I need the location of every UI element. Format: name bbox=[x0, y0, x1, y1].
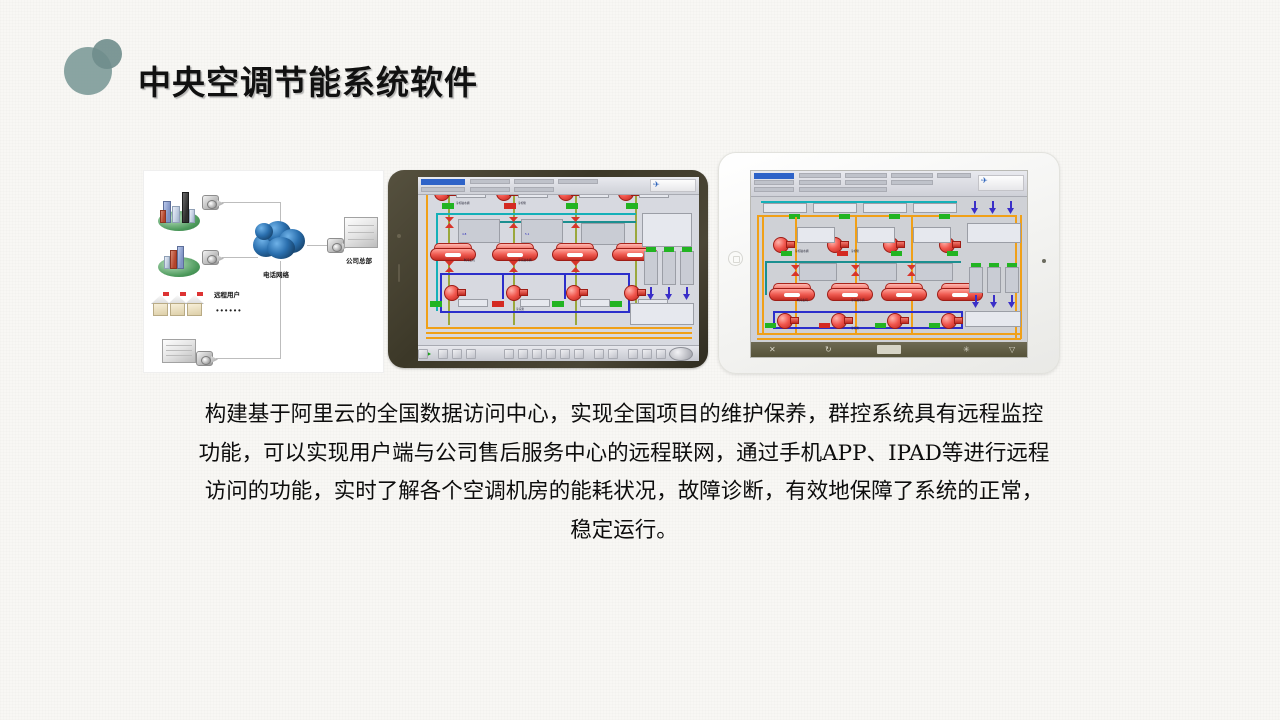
modem-headquarters bbox=[327, 238, 344, 253]
hmi-top-cell-5 bbox=[470, 187, 510, 192]
w-ahu-status-3 bbox=[1007, 263, 1017, 267]
cooling-tower-panel bbox=[630, 303, 694, 325]
house-body-2 bbox=[170, 303, 185, 316]
tablet-dark-screen[interactable]: 冷却进水阀 冷却泵 4.8 5.1 bbox=[418, 177, 699, 361]
w-blue-top bbox=[773, 311, 963, 313]
w-hmi-label-chiller: 制冷主机 bbox=[797, 299, 808, 302]
toolbar-icon-2[interactable] bbox=[452, 349, 462, 359]
chilled-readout-3 bbox=[580, 299, 610, 307]
hmi-company-logo bbox=[650, 179, 696, 192]
house-3 bbox=[185, 295, 204, 316]
w-orange-left-2 bbox=[762, 215, 764, 335]
hmi-schematic-dark: 冷却进水阀 冷却泵 4.8 5.1 bbox=[418, 177, 699, 361]
hq-line-3 bbox=[348, 239, 374, 240]
toolbar-icon-7[interactable] bbox=[532, 349, 542, 359]
w-status-7 bbox=[891, 251, 902, 256]
w-ahu-arrow-2 bbox=[989, 201, 996, 214]
w-chilled-pump-3 bbox=[887, 313, 909, 330]
w-ahu-unit-3 bbox=[1005, 267, 1019, 293]
server-line-2 bbox=[166, 350, 192, 351]
w-hmi-label-chilled-pump: 冷冻泵 bbox=[851, 327, 859, 330]
house-body-3 bbox=[187, 303, 202, 316]
remote-users-label: 远程用户 bbox=[214, 289, 240, 299]
w-hmi-label-chilled-inlet-valve: 冷冻进水阀 bbox=[851, 299, 865, 302]
w-ahu-arrow-3 bbox=[1007, 201, 1014, 214]
download-icon[interactable]: ▽ bbox=[1009, 346, 1015, 354]
hmi-label-cooling-pump: 冷却泵 bbox=[518, 202, 526, 205]
building-c bbox=[160, 210, 166, 223]
w-param-3 bbox=[913, 227, 951, 243]
hmi-label-chiller: 制冷主机 bbox=[464, 259, 475, 262]
overlapping-circles-logo bbox=[64, 39, 124, 99]
toolbar-status-dial[interactable] bbox=[669, 347, 693, 361]
chilled-riser-mid-1 bbox=[502, 273, 504, 299]
w-top-cell-10 bbox=[799, 187, 887, 192]
toolbar-icon-11[interactable] bbox=[594, 349, 604, 359]
w-ahu-status-1 bbox=[971, 263, 981, 267]
back-icon[interactable]: ↻ bbox=[825, 346, 832, 354]
building-e bbox=[189, 209, 195, 223]
w-top-cell-6 bbox=[799, 180, 841, 185]
cloud-lobe-4 bbox=[267, 237, 295, 259]
toolbar-icon-8[interactable] bbox=[546, 349, 556, 359]
w-param-2 bbox=[857, 227, 895, 243]
w-param-6 bbox=[915, 263, 953, 281]
close-icon[interactable]: ✕ bbox=[769, 346, 776, 354]
tablet-white-device[interactable]: 冷却进水阀 冷却泵 制冷主机 冷冻进水阀 bbox=[718, 152, 1060, 374]
hmi-top-cell-1 bbox=[470, 179, 510, 184]
toolbar-icon-15[interactable] bbox=[656, 349, 666, 359]
valve-6 bbox=[571, 261, 580, 272]
ahu-flow-arrow-2 bbox=[665, 287, 672, 300]
tablet-dark-device[interactable]: 冷却进水阀 冷却泵 4.8 5.1 bbox=[388, 170, 708, 368]
ahu-status-1 bbox=[646, 247, 656, 252]
toolbar-icon-9[interactable] bbox=[560, 349, 570, 359]
cooling-tower-2 bbox=[813, 203, 857, 213]
page-title: 中央空调节能系统软件 bbox=[138, 60, 478, 106]
chilled-riser-left bbox=[440, 273, 442, 313]
city-buildings-site-2 bbox=[158, 243, 204, 277]
valve-5 bbox=[509, 261, 518, 272]
orange-return-3 bbox=[426, 337, 692, 339]
w-orange-left-1 bbox=[757, 215, 759, 335]
houses-site-3 bbox=[151, 293, 211, 317]
w-ahu-panel-1 bbox=[967, 223, 1021, 243]
house-body-1 bbox=[153, 303, 168, 316]
valve-2 bbox=[509, 217, 518, 228]
w-status-2 bbox=[839, 214, 850, 219]
network-diagram-figure: 电话网络 公司总部 远程用户 •••••• bbox=[143, 170, 384, 373]
w-top-cell-5 bbox=[754, 180, 794, 185]
w-chilled-pump-2 bbox=[831, 313, 853, 330]
w-hmi-company-logo bbox=[978, 175, 1024, 191]
camera-dot-ipad bbox=[1042, 259, 1046, 263]
orange-riser-left bbox=[426, 191, 428, 329]
w-ahu-arrow-1 bbox=[971, 201, 978, 214]
toolbar-icon-14[interactable] bbox=[642, 349, 652, 359]
status-tag-run-2 bbox=[566, 203, 578, 209]
w-top-cell-9 bbox=[754, 187, 794, 192]
w-ahu-unit-2 bbox=[987, 267, 1001, 293]
status-tag-stop-1 bbox=[504, 203, 516, 209]
w-status-8 bbox=[947, 251, 958, 256]
logo-circle-small bbox=[92, 39, 122, 69]
hmi-top-bar-dark bbox=[418, 177, 699, 195]
w-top-cell-1 bbox=[799, 173, 841, 178]
w-top-cell-2 bbox=[845, 173, 887, 178]
hmi-title-block bbox=[421, 179, 465, 185]
valve-1 bbox=[445, 217, 454, 228]
building-b bbox=[182, 192, 189, 223]
w-chilled-pump-4 bbox=[941, 313, 963, 330]
toolbar-icon-5[interactable] bbox=[418, 349, 428, 359]
hmi-top-cell-2 bbox=[514, 179, 554, 184]
hmi-top-cell-4 bbox=[421, 187, 465, 192]
wire-hq bbox=[307, 245, 329, 246]
orange-return-1 bbox=[426, 327, 692, 329]
w-ahu-flow-2 bbox=[990, 295, 997, 308]
hmi-label-cooling-inlet-valve: 冷却进水阀 bbox=[456, 202, 470, 205]
hmi-top-cell-3 bbox=[558, 179, 598, 184]
chilled-header-top bbox=[440, 273, 630, 275]
w-chiller-1 bbox=[769, 283, 815, 305]
status-tag-run-1 bbox=[442, 203, 454, 209]
headquarters-server bbox=[344, 217, 378, 248]
w-orange-bottom-2 bbox=[757, 338, 1021, 340]
hmi-schematic-white: 冷却进水阀 冷却泵 制冷主机 冷冻进水阀 bbox=[751, 171, 1027, 357]
orange-return-2 bbox=[426, 332, 692, 334]
toolbar-icon-3[interactable] bbox=[466, 349, 476, 359]
w-status-3 bbox=[889, 214, 900, 219]
status-tag-run-4 bbox=[430, 301, 442, 307]
ahu-unit-1 bbox=[644, 251, 658, 285]
param-panel-2 bbox=[521, 219, 563, 243]
home-button[interactable] bbox=[728, 251, 743, 266]
w-top-cell-8 bbox=[891, 180, 933, 185]
param-panel-1 bbox=[458, 219, 500, 243]
server-box-site-4 bbox=[162, 339, 196, 363]
ahu-unit-2 bbox=[662, 251, 676, 285]
toolbar-icon-1[interactable] bbox=[438, 349, 448, 359]
w-status-4 bbox=[939, 214, 950, 219]
telephone-network-cloud bbox=[251, 219, 307, 261]
w-status-10 bbox=[819, 323, 830, 328]
status-tag-run-6 bbox=[610, 301, 622, 307]
w-top-cell-3 bbox=[891, 173, 933, 178]
w-hmi-label-cooling-inlet-valve: 冷却进水阀 bbox=[795, 250, 809, 253]
w-param-5 bbox=[859, 263, 897, 281]
w-status-5 bbox=[781, 251, 792, 256]
modem-site-2 bbox=[202, 250, 219, 265]
w-tank-panel bbox=[965, 311, 1021, 327]
w-hmi-title-block bbox=[754, 173, 794, 179]
w-orange-bottom-1 bbox=[757, 333, 1021, 335]
valve-4 bbox=[445, 261, 454, 272]
headquarters-label: 公司总部 bbox=[346, 255, 372, 265]
w-status-9 bbox=[765, 323, 776, 328]
modem-site-4 bbox=[196, 351, 213, 366]
hmi-label-chilled-inlet-valve: 冷冻进水阀 bbox=[518, 259, 532, 262]
cloud-lobe-5 bbox=[255, 223, 273, 240]
toolbar-icon-6[interactable] bbox=[518, 349, 528, 359]
w-status-11 bbox=[875, 323, 886, 328]
wire-site4 bbox=[216, 358, 280, 359]
w-hmi-label-cooling-pump: 冷却泵 bbox=[851, 250, 859, 253]
building-f bbox=[170, 250, 177, 269]
chilled-readout-1 bbox=[458, 299, 488, 307]
ahu-flow-arrow-1 bbox=[647, 287, 654, 300]
w-ahu-flow-3 bbox=[1008, 295, 1015, 308]
w-teal-riser bbox=[765, 261, 767, 295]
wire-site1 bbox=[222, 202, 280, 203]
toolbar-icon-13[interactable] bbox=[628, 349, 638, 359]
hmi-top-cell-6 bbox=[514, 187, 554, 192]
w-status-6 bbox=[837, 251, 848, 256]
cooling-tower-4 bbox=[913, 203, 957, 213]
w-param-1 bbox=[797, 227, 835, 243]
w-ahu-status-2 bbox=[989, 263, 999, 267]
ahu-unit-3 bbox=[680, 251, 694, 285]
param-value-1: 4.8 bbox=[462, 233, 466, 236]
w-param-4 bbox=[799, 263, 837, 281]
server-line-1 bbox=[166, 345, 192, 346]
cooling-tower-3 bbox=[863, 203, 907, 213]
w-ahu-unit-1 bbox=[969, 267, 983, 293]
ahu-flow-arrow-3 bbox=[683, 287, 690, 300]
building-d bbox=[172, 206, 180, 223]
house-flag-3 bbox=[197, 292, 203, 296]
w-top-cell-4 bbox=[937, 173, 971, 178]
ahu-status-2 bbox=[664, 247, 674, 252]
hq-line-2 bbox=[348, 232, 374, 233]
w-chiller-2 bbox=[827, 283, 873, 305]
w-ahu-flow-1 bbox=[972, 295, 979, 308]
w-chilled-pump-1 bbox=[777, 313, 799, 330]
hmi-toolbar-dark[interactable] bbox=[418, 345, 699, 361]
hmi-label-chilled-pump: 冷冻泵 bbox=[516, 308, 524, 311]
speaker-slot bbox=[398, 264, 400, 282]
status-tag-run-3 bbox=[626, 203, 638, 209]
ahu-summary-panel bbox=[642, 213, 692, 247]
toolbar-icon-4[interactable] bbox=[504, 349, 514, 359]
ahu-status-3 bbox=[682, 247, 692, 252]
param-panel-3 bbox=[581, 223, 625, 245]
w-chiller-3 bbox=[881, 283, 927, 305]
hmi-top-bar-white bbox=[751, 171, 1027, 197]
param-value-2: 5.1 bbox=[525, 233, 529, 236]
valve-3 bbox=[571, 217, 580, 228]
building-g bbox=[177, 246, 184, 269]
chilled-readout-2 bbox=[520, 299, 550, 307]
w-status-12 bbox=[929, 323, 940, 328]
ipad-bottom-toolbar[interactable]: ✕ ↻ ⚒ ✳ ▽ bbox=[751, 342, 1027, 357]
body-paragraph: 构建基于阿里云的全国数据访问中心，实现全国项目的维护保养，群控系统具有远程监控功… bbox=[196, 396, 1052, 550]
cooling-tower-1 bbox=[763, 203, 807, 213]
server-line-3 bbox=[166, 355, 192, 356]
w-top-cell-7 bbox=[845, 180, 887, 185]
chilled-header-bottom bbox=[440, 311, 630, 313]
building-h bbox=[164, 256, 170, 269]
gear-icon[interactable]: ✳ bbox=[963, 346, 970, 354]
status-tag-stop-2 bbox=[492, 301, 504, 307]
slide-canvas: 中央空调节能系统软件 bbox=[0, 0, 1280, 720]
toolbar-icon-10[interactable] bbox=[574, 349, 584, 359]
cooling-header-cyan bbox=[436, 213, 636, 215]
city-buildings-site-1 bbox=[158, 193, 204, 231]
toolbar-icon-12[interactable] bbox=[608, 349, 618, 359]
tablet-white-screen[interactable]: 冷却进水阀 冷却泵 制冷主机 冷冻进水阀 bbox=[750, 170, 1028, 358]
hq-line-1 bbox=[348, 225, 374, 226]
modem-site-1 bbox=[202, 195, 219, 210]
remote-users-ellipsis: •••••• bbox=[216, 306, 242, 315]
keyboard-icon[interactable] bbox=[877, 345, 901, 354]
cloud-label: 电话网络 bbox=[263, 269, 289, 279]
camera-dot bbox=[397, 234, 401, 238]
status-tag-run-5 bbox=[552, 301, 564, 307]
